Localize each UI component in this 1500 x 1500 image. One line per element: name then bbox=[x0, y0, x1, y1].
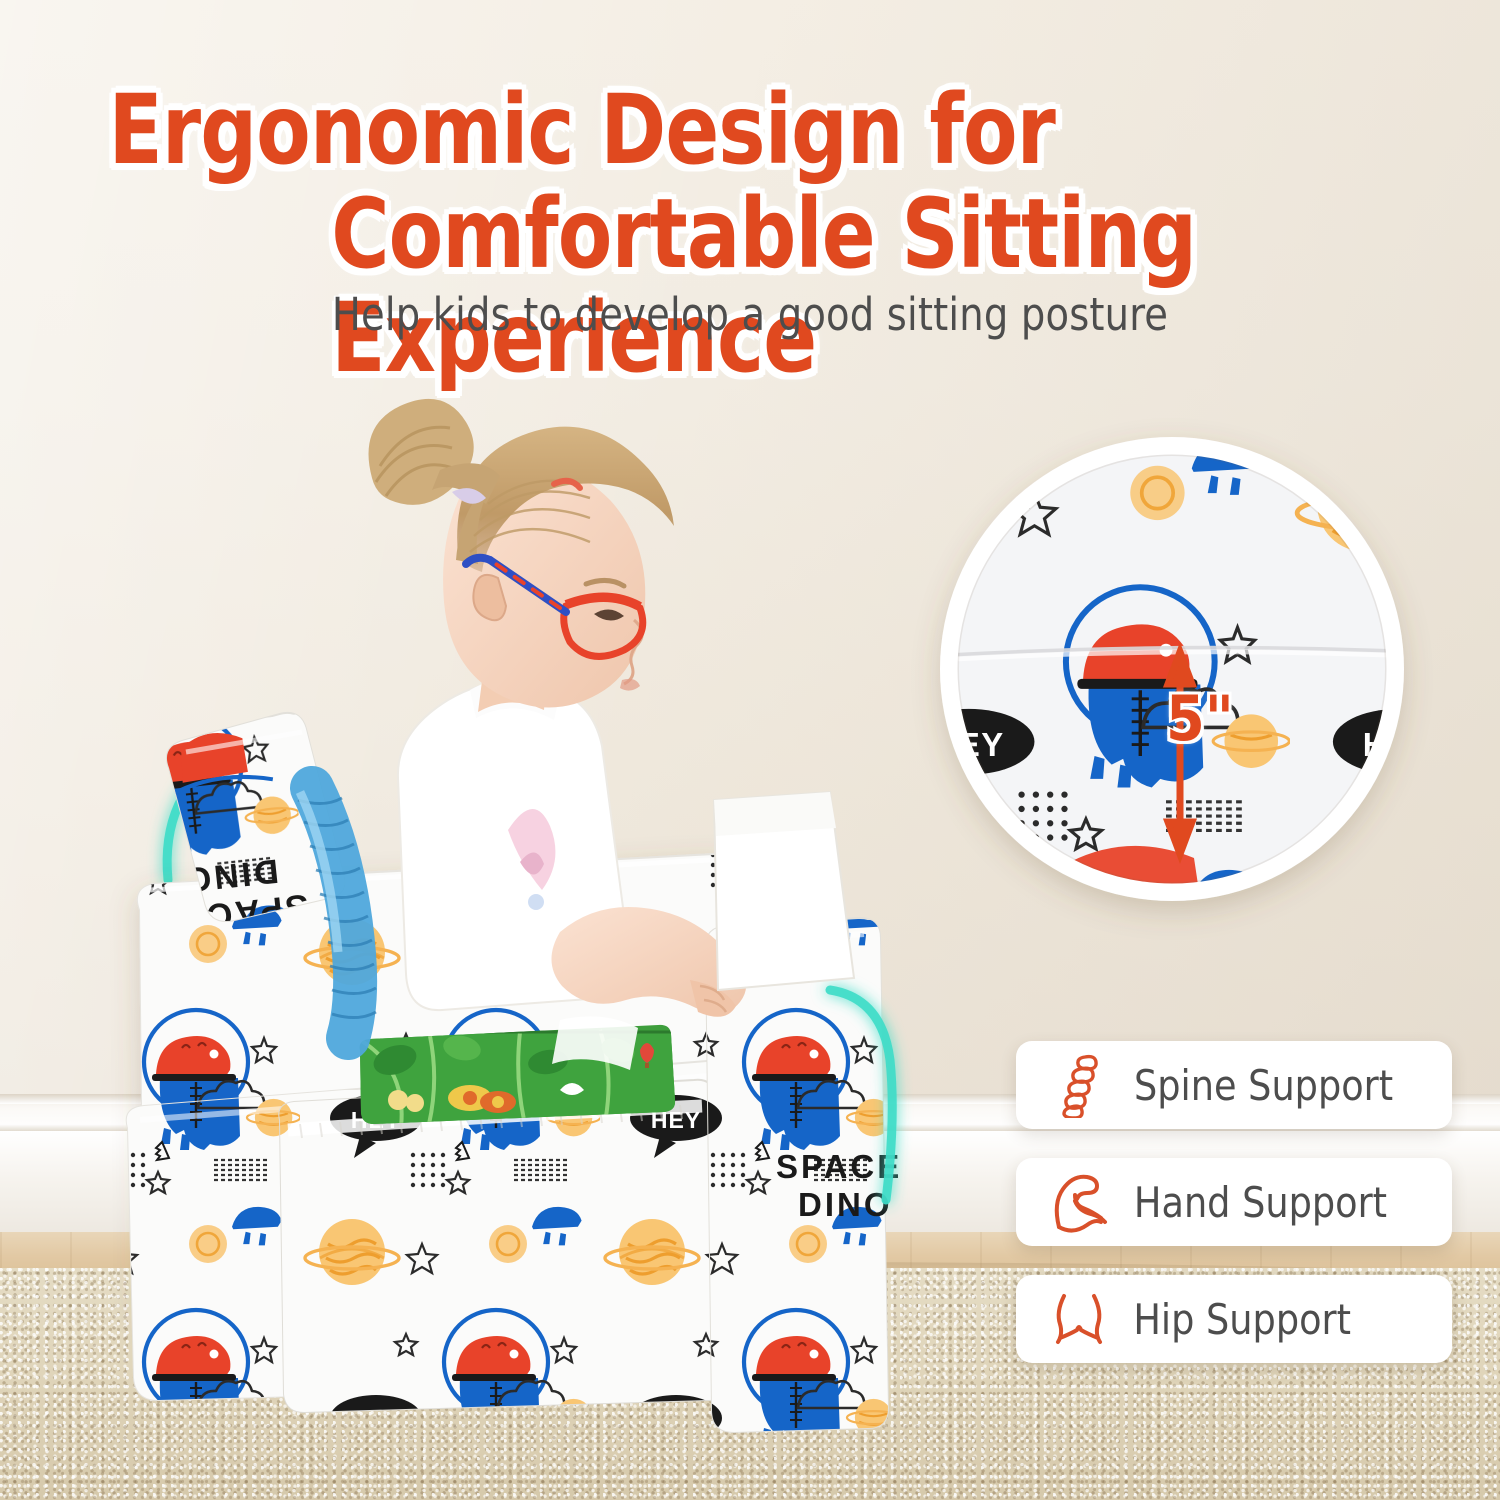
badge-label: Hip Support bbox=[1133, 1295, 1351, 1344]
bicep-icon bbox=[1042, 1171, 1116, 1233]
badge-label: Hand Support bbox=[1134, 1178, 1387, 1227]
child-subject bbox=[369, 399, 855, 1070]
fabric-brand-line1: SPACE bbox=[776, 1148, 902, 1185]
detail-inset-circle bbox=[940, 437, 1404, 904]
hip-icon bbox=[1042, 1290, 1116, 1348]
badge-label: Spine Support bbox=[1134, 1061, 1393, 1110]
chair-front-pocket bbox=[270, 1080, 730, 1440]
feature-badge-list: Spine Support Hand Support bbox=[1016, 1041, 1452, 1392]
product-marketing-image: Ergonomic Design for Comfortable Sitting… bbox=[0, 0, 1500, 1500]
spine-icon bbox=[1042, 1052, 1116, 1118]
fabric-brand-line2: DINO bbox=[798, 1186, 893, 1223]
badge-spine-support[interactable]: Spine Support bbox=[1016, 1041, 1452, 1129]
badge-hip-support[interactable]: Hip Support bbox=[1016, 1275, 1452, 1363]
measurement-label: 5" bbox=[1166, 688, 1234, 750]
badge-hand-support[interactable]: Hand Support bbox=[1016, 1158, 1452, 1246]
